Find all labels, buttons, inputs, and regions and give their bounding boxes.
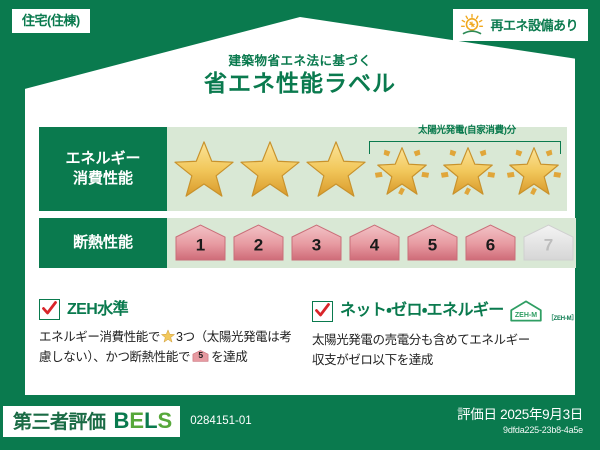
- bels-letter-l: L: [144, 408, 157, 433]
- performance-rows: エネルギー 消費性能 太陽光発電(自家消費)分: [39, 127, 561, 275]
- bels-letter-b: B: [114, 408, 130, 433]
- energy-label-line1: エネルギー: [65, 149, 140, 169]
- solar-sun-icon: [459, 13, 485, 37]
- star-filled-solar: [501, 133, 567, 205]
- insulation-level-number: 1: [173, 237, 228, 254]
- energy-label-line2: 消費性能: [73, 169, 133, 189]
- insulation-level-number: 6: [463, 237, 518, 254]
- bels-certificate-id: 0284151-01: [190, 415, 251, 427]
- evaluation-date-label: 評価日: [457, 407, 497, 422]
- evaluation-date-value: 2025年9月3日: [500, 407, 583, 422]
- zeh-m-logo-caption: ［ZEH-M］: [548, 313, 578, 322]
- desc-star-count: 3つ（太陽光発電: [176, 330, 267, 344]
- insulation-level-number: 5: [405, 237, 460, 254]
- evaluation-hash: 9dfda225-23b8-4a5e: [457, 425, 583, 436]
- third-party-evaluation-label: 第三者評価: [13, 413, 106, 432]
- criterion-net-zero-energy: ネット・ゼロ・エネルギー ZEH-M ［ZEH-M］ 太陽光発電の売電分も含めて…: [312, 299, 569, 371]
- insulation-level-scale: 1 2 3 4 5: [173, 223, 576, 263]
- zeh-standard-checkbox[interactable]: [39, 299, 60, 320]
- zeh-m-logo-icon: ZEH-M: [509, 299, 543, 323]
- svg-text:ZEH-M: ZEH-M: [515, 312, 537, 319]
- desc-line2: 収支がゼロ以下を達成: [312, 350, 569, 370]
- check-icon: [314, 302, 331, 319]
- title-subtitle: 建築物省エネ法に基づく: [3, 55, 597, 68]
- bels-letter-e: E: [129, 408, 144, 433]
- insulation-level-marker: 6: [463, 223, 518, 263]
- energy-performance-row: エネルギー 消費性能 太陽光発電(自家消費)分: [39, 127, 561, 211]
- evaluation-info: 評価日 2025年9月3日 9dfda225-23b8-4a5e: [457, 407, 583, 436]
- criterion-header: ネット・ゼロ・エネルギー ZEH-M ［ZEH-M］: [312, 299, 569, 323]
- energy-performance-value: 太陽光発電(自家消費)分: [167, 127, 567, 211]
- insulation-performance-label: 断熱性能: [39, 218, 167, 268]
- title-main: 省エネ性能ラベル: [3, 71, 597, 95]
- desc-line1: 太陽光発電の売電分も含めてエネルギー: [312, 330, 569, 350]
- title-block: 建築物省エネ法に基づく 省エネ性能ラベル: [3, 55, 597, 95]
- insulation-level-marker-inactive: 7: [521, 223, 576, 263]
- energy-performance-label: エネルギー 消費性能: [39, 127, 167, 211]
- insulation-level-marker: 3: [289, 223, 344, 263]
- renewable-badge-label: 再エネ設備あり: [490, 19, 578, 32]
- desc-part1: エネルギー消費性能で: [39, 330, 160, 344]
- zeh-standard-title: ZEH水準: [67, 302, 128, 318]
- insulation-level-marker: 2: [231, 223, 286, 263]
- insulation-label-text: 断熱性能: [73, 233, 133, 253]
- net-zero-energy-description: 太陽光発電の売電分も含めてエネルギー 収支がゼロ以下を達成: [312, 330, 569, 371]
- star-filled: [171, 133, 237, 205]
- insulation-performance-value: 1 2 3 4 5: [167, 218, 576, 268]
- star-filled-solar: [435, 133, 501, 205]
- inline-star-icon: [161, 329, 175, 343]
- star-filled-solar: [369, 133, 435, 205]
- net-zero-energy-title: ネット・ゼロ・エネルギー: [340, 303, 504, 319]
- desc-part3: を達成: [211, 350, 247, 364]
- criteria-section: ZEH水準 エネルギー消費性能で3つ（太陽光発電は考慮しない）、かつ断熱性能で5…: [39, 299, 569, 371]
- insulation-level-marker: 4: [347, 223, 402, 263]
- insulation-level-number: 4: [347, 237, 402, 254]
- inline-house-number: 5: [192, 351, 209, 360]
- bels-wordmark: BELS: [114, 410, 173, 432]
- star-filled: [237, 133, 303, 205]
- bels-group: 第三者評価 BELS 0284151-01: [3, 406, 252, 437]
- check-icon: [41, 300, 58, 317]
- footer: 第三者評価 BELS 0284151-01 評価日 2025年9月3日 9dfd…: [3, 395, 597, 447]
- evaluation-date: 評価日 2025年9月3日: [457, 407, 583, 423]
- insulation-level-marker: 5: [405, 223, 460, 263]
- inline-house-icon: 5: [192, 349, 209, 363]
- criterion-zeh-standard: ZEH水準 エネルギー消費性能で3つ（太陽光発電は考慮しない）、かつ断熱性能で5…: [39, 299, 296, 371]
- star-filled: [303, 133, 369, 205]
- bels-badge: 第三者評価 BELS: [3, 406, 180, 437]
- insulation-level-number: 7: [521, 237, 576, 254]
- insulation-level-marker: 1: [173, 223, 228, 263]
- insulation-level-number: 3: [289, 237, 344, 254]
- criterion-header: ZEH水準: [39, 299, 296, 320]
- renewable-equipment-badge: 再エネ設備あり: [453, 9, 588, 41]
- insulation-performance-row: 断熱性能 1 2 3: [39, 218, 561, 268]
- net-zero-energy-checkbox[interactable]: [312, 301, 333, 322]
- zeh-standard-description: エネルギー消費性能で3つ（太陽光発電は考慮しない）、かつ断熱性能で5を達成: [39, 327, 296, 368]
- housing-type-tag: 住宅(住棟): [12, 9, 90, 33]
- insulation-level-number: 2: [231, 237, 286, 254]
- bels-letter-s: S: [158, 408, 173, 433]
- star-rating: [171, 133, 567, 205]
- energy-label-card: 住宅(住棟) 再エネ設備あり 建築物省エネ法に基づく 省エネ性能ラベル: [0, 0, 600, 450]
